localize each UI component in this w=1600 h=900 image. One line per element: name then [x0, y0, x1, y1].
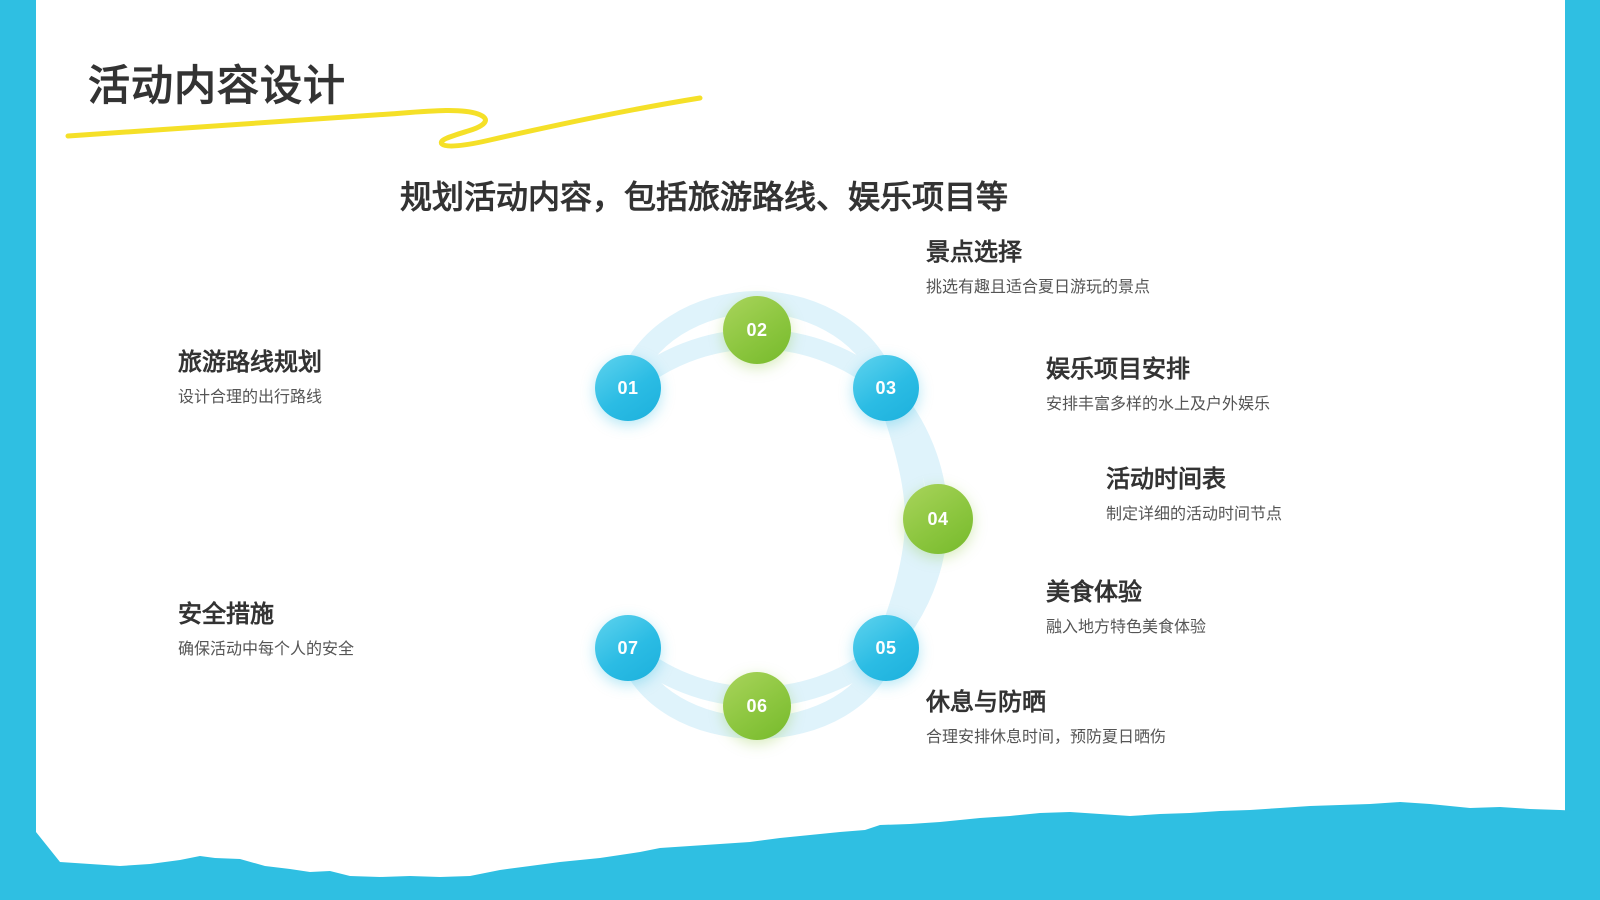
cycle-node-02[interactable]: 02: [723, 296, 791, 364]
item-label-02[interactable]: 景点选择 挑选有趣且适合夏日游玩的景点: [926, 238, 1150, 299]
item-title-07: 安全措施: [178, 600, 354, 630]
item-label-06[interactable]: 休息与防晒 合理安排休息时间，预防夏日晒伤: [926, 688, 1166, 749]
item-title-04: 活动时间表: [1106, 465, 1282, 495]
cycle-node-05-label: 05: [875, 638, 896, 659]
item-title-01: 旅游路线规划: [178, 348, 322, 378]
item-title-02: 景点选择: [926, 238, 1150, 268]
cycle-node-06-label: 06: [746, 696, 767, 717]
item-desc-06: 合理安排休息时间，预防夏日晒伤: [926, 728, 1166, 749]
cycle-node-07-label: 07: [617, 638, 638, 659]
cycle-node-01[interactable]: 01: [595, 355, 661, 421]
item-title-03: 娱乐项目安排: [1046, 355, 1270, 385]
item-label-07[interactable]: 安全措施 确保活动中每个人的安全: [178, 600, 354, 661]
item-desc-01: 设计合理的出行路线: [178, 388, 322, 409]
item-title-05: 美食体验: [1046, 578, 1206, 608]
right-edge-bar: [1565, 0, 1600, 900]
item-desc-03: 安排丰富多样的水上及户外娱乐: [1046, 395, 1270, 416]
item-desc-02: 挑选有趣且适合夏日游玩的景点: [926, 278, 1150, 299]
item-desc-07: 确保活动中每个人的安全: [178, 640, 354, 661]
cycle-diagram: 01 02 03 04 05 06 07: [560, 280, 1000, 750]
cycle-node-03[interactable]: 03: [853, 355, 919, 421]
item-label-05[interactable]: 美食体验 融入地方特色美食体验: [1046, 578, 1206, 639]
cycle-node-05[interactable]: 05: [853, 615, 919, 681]
slide-canvas: 活动内容设计 规划活动内容，包括旅游路线、娱乐项目等 01 02 03 04 0…: [0, 0, 1600, 900]
item-label-01[interactable]: 旅游路线规划 设计合理的出行路线: [178, 348, 322, 409]
cycle-node-04[interactable]: 04: [903, 484, 973, 554]
cycle-node-06[interactable]: 06: [723, 672, 791, 740]
slide-subtitle: 规划活动内容，包括旅游路线、娱乐项目等: [400, 172, 1008, 218]
torn-bottom-edge: [0, 780, 1600, 900]
cycle-node-04-label: 04: [927, 509, 948, 530]
cycle-node-01-label: 01: [617, 378, 638, 399]
page-title: 活动内容设计: [88, 52, 346, 113]
left-edge-bar: [0, 0, 36, 900]
cycle-node-07[interactable]: 07: [595, 615, 661, 681]
item-label-04[interactable]: 活动时间表 制定详细的活动时间节点: [1106, 465, 1282, 526]
cycle-node-03-label: 03: [875, 378, 896, 399]
item-title-06: 休息与防晒: [926, 688, 1166, 718]
item-desc-04: 制定详细的活动时间节点: [1106, 505, 1282, 526]
item-label-03[interactable]: 娱乐项目安排 安排丰富多样的水上及户外娱乐: [1046, 355, 1270, 416]
item-desc-05: 融入地方特色美食体验: [1046, 618, 1206, 639]
cycle-node-02-label: 02: [746, 320, 767, 341]
